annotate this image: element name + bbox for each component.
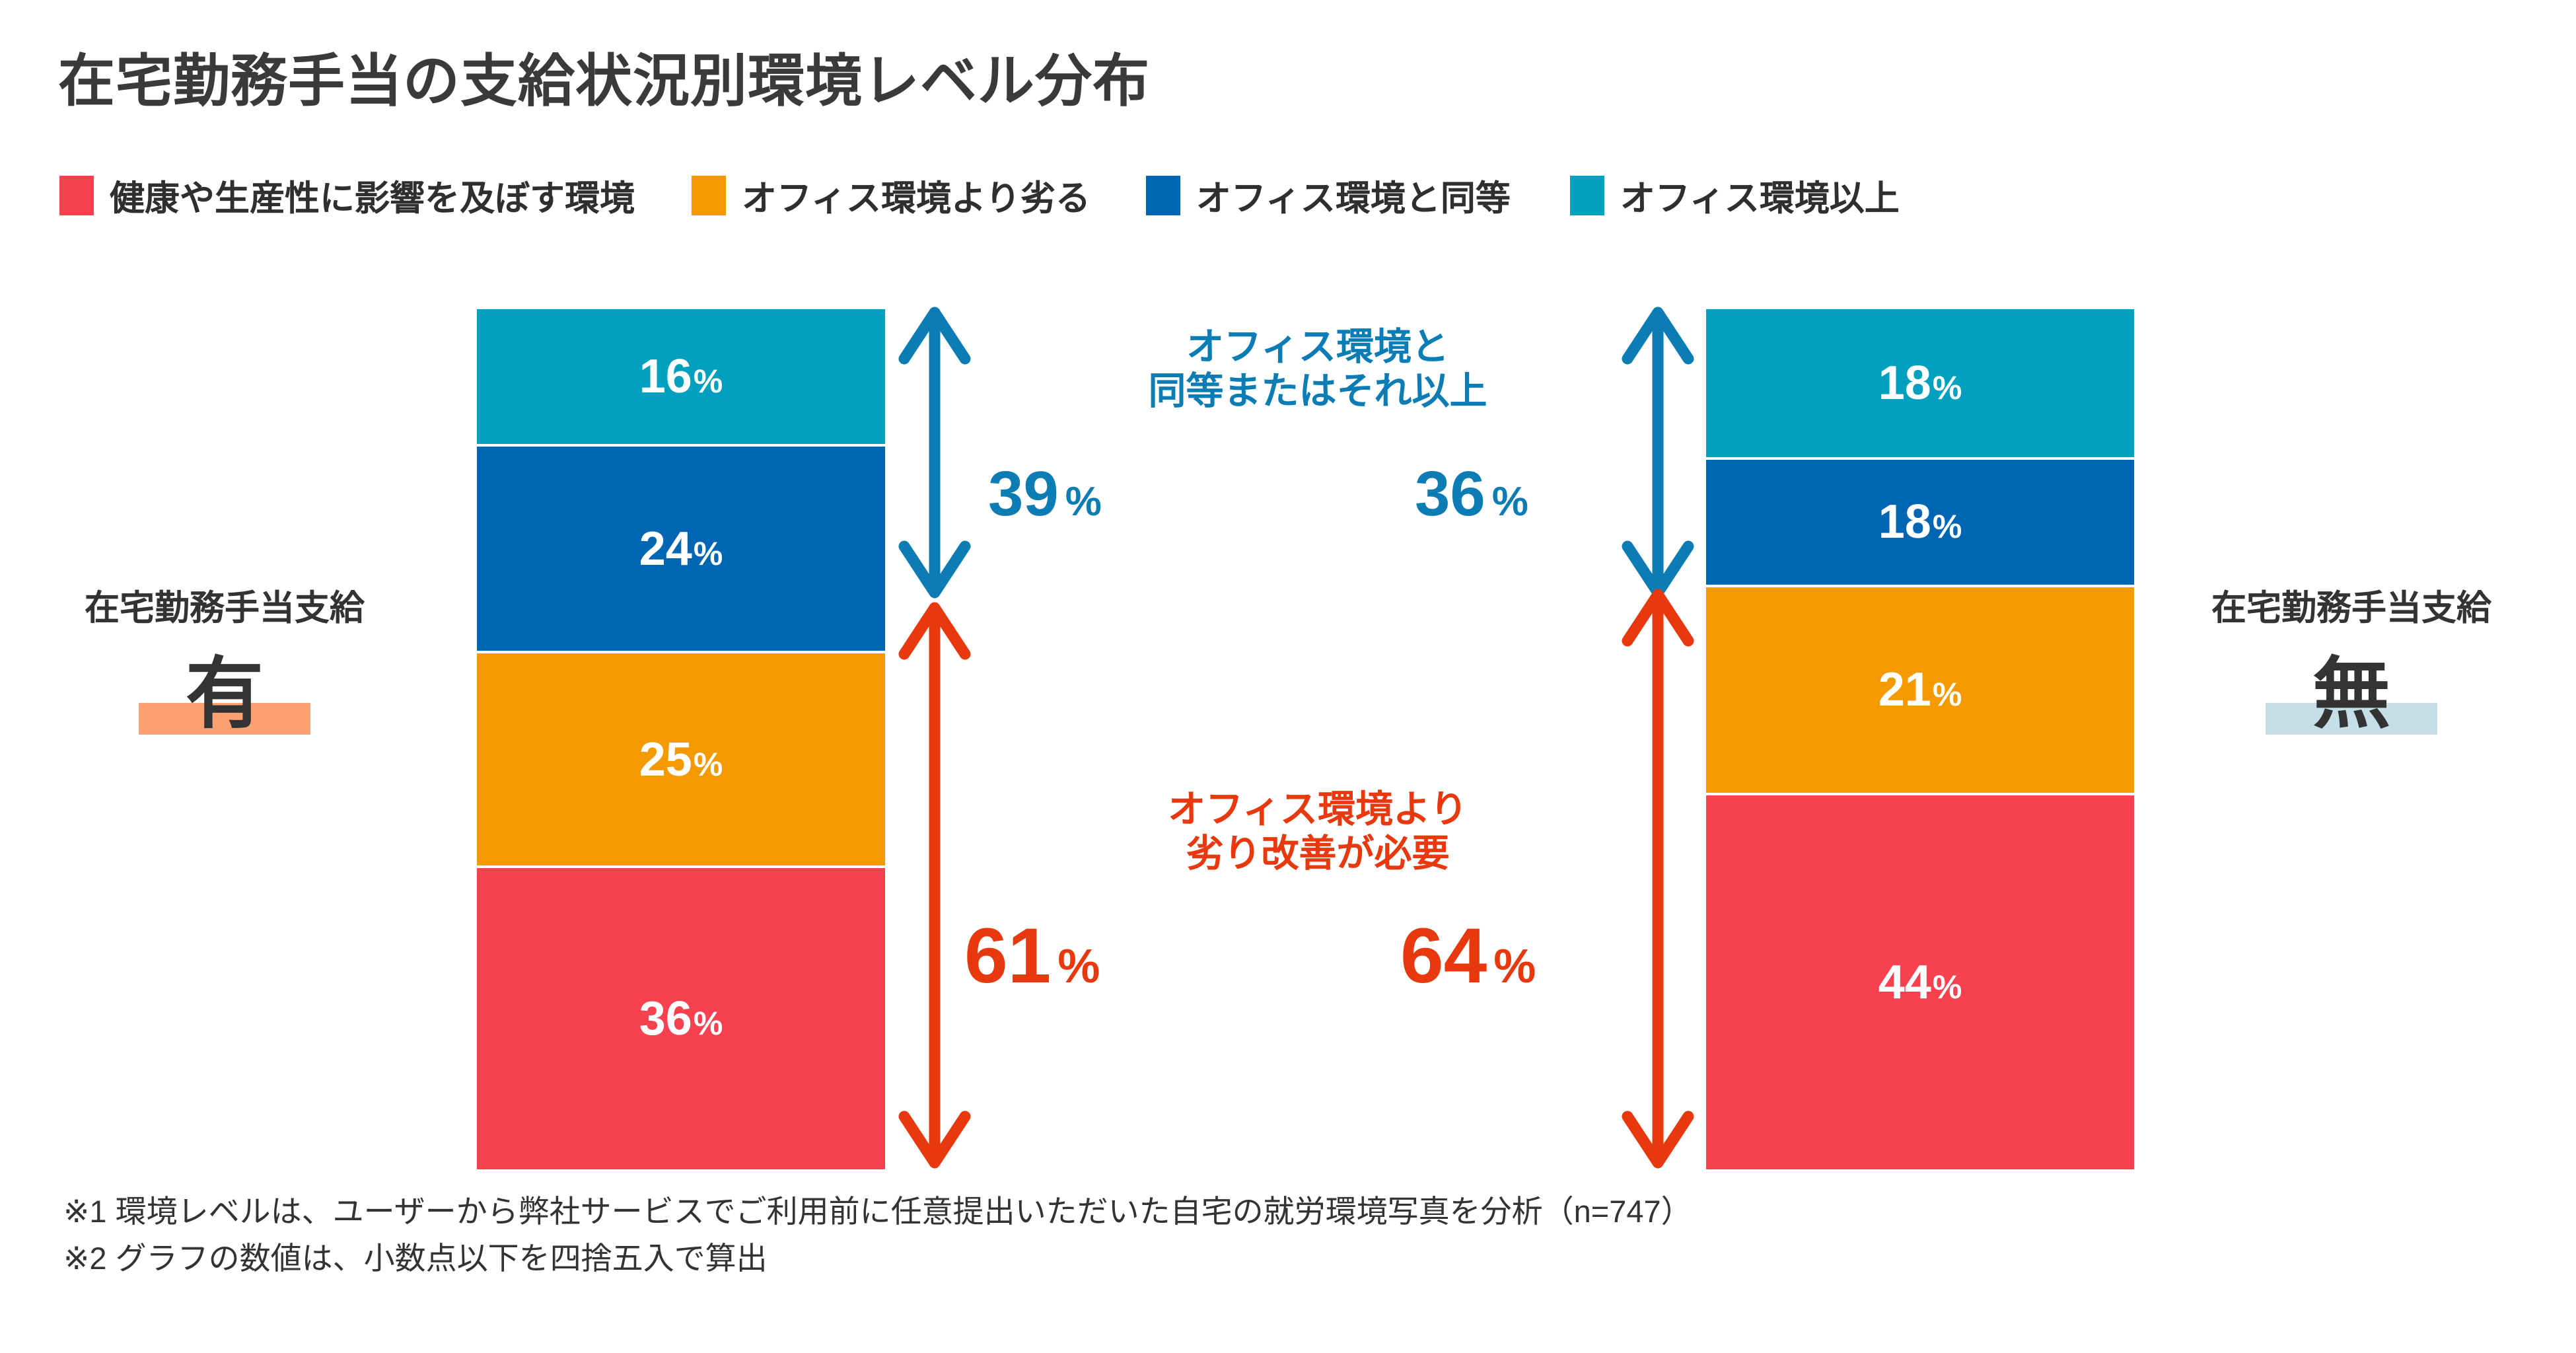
category-label-left-char: 有 <box>186 651 264 738</box>
annotation-blue-value-left: 39% <box>988 462 1102 526</box>
double-arrow-blue-left-icon <box>895 301 974 604</box>
segment-value: 24% <box>639 525 723 573</box>
category-label-left-big: 有 <box>186 654 264 736</box>
bar-segment-orange: 21% <box>1706 587 2134 795</box>
annotation-red-value-right: 64% <box>1400 917 1536 995</box>
annotation-blue-value-left-unit: % <box>1065 482 1102 523</box>
double-arrow-red-right-icon <box>1618 581 1698 1176</box>
bar-segment-orange: 25% <box>477 653 885 869</box>
category-label-right-char: 無 <box>2312 651 2390 738</box>
segment-value: 44% <box>1878 959 1962 1006</box>
bar-segment-blue: 18% <box>1706 460 2134 587</box>
bar-segment-red: 44% <box>1706 795 2134 1169</box>
bar-allowance-yes: 16% 24% 25% 36% <box>477 309 885 1169</box>
annotation-red-line1: オフィス環境より <box>971 787 1664 832</box>
annotation-blue-value-left-number: 39 <box>988 462 1059 526</box>
double-arrow-red-left-icon <box>895 595 974 1176</box>
annotation-blue-value-right-unit: % <box>1492 482 1528 523</box>
annotation-blue-value-right: 36% <box>1415 462 1528 526</box>
annotation-red-value-left-unit: % <box>1057 943 1100 990</box>
footnotes: ※1 環境レベルは、ユーザーから弊社サービスでご利用前に任意提出いただいた自宅の… <box>63 1188 1692 1282</box>
segment-value: 36% <box>639 995 723 1042</box>
segment-value: 18% <box>1878 498 1962 546</box>
category-label-left-heading: 在宅勤務手当支給 <box>20 580 429 630</box>
segment-value: 18% <box>1878 359 1962 407</box>
category-label-right-big: 無 <box>2312 654 2390 736</box>
segment-value: 16% <box>639 353 723 400</box>
footnote-line-2: ※2 グラフの数値は、小数点以下を四捨五入で算出 <box>63 1235 1692 1282</box>
annotation-blue-value-right-number: 36 <box>1415 462 1485 526</box>
category-label-right: 在宅勤務手当支給 無 <box>2147 580 2556 736</box>
bar-allowance-no: 18% 18% 21% 44% <box>1706 309 2134 1169</box>
bar-segment-teal: 18% <box>1706 309 2134 460</box>
annotation-red-value-right-unit: % <box>1493 943 1536 990</box>
bar-segment-blue: 24% <box>477 447 885 653</box>
category-label-right-heading: 在宅勤務手当支給 <box>2147 580 2556 630</box>
annotation-blue-line2: 同等またはそれ以上 <box>971 369 1664 414</box>
stacked-bar-chart: 16% 24% 25% 36% 18% 18% 21% 44% <box>0 0 2576 1353</box>
annotation-red-value-right-number: 64 <box>1400 917 1487 995</box>
bar-segment-teal: 16% <box>477 309 885 447</box>
category-label-left: 在宅勤務手当支給 有 <box>20 580 429 736</box>
annotation-red-value-left: 61% <box>964 917 1100 995</box>
segment-value: 25% <box>639 736 723 784</box>
annotation-blue-line1: オフィス環境と <box>971 325 1664 369</box>
annotation-red-label: オフィス環境より 劣り改善が必要 <box>971 787 1664 877</box>
annotation-red-value-left-number: 61 <box>964 917 1051 995</box>
footnote-line-1: ※1 環境レベルは、ユーザーから弊社サービスでご利用前に任意提出いただいた自宅の… <box>63 1188 1692 1235</box>
annotation-red-line2: 劣り改善が必要 <box>971 832 1664 876</box>
segment-value: 21% <box>1878 666 1962 713</box>
bar-segment-red: 36% <box>477 868 885 1169</box>
annotation-blue-label: オフィス環境と 同等またはそれ以上 <box>971 325 1664 414</box>
